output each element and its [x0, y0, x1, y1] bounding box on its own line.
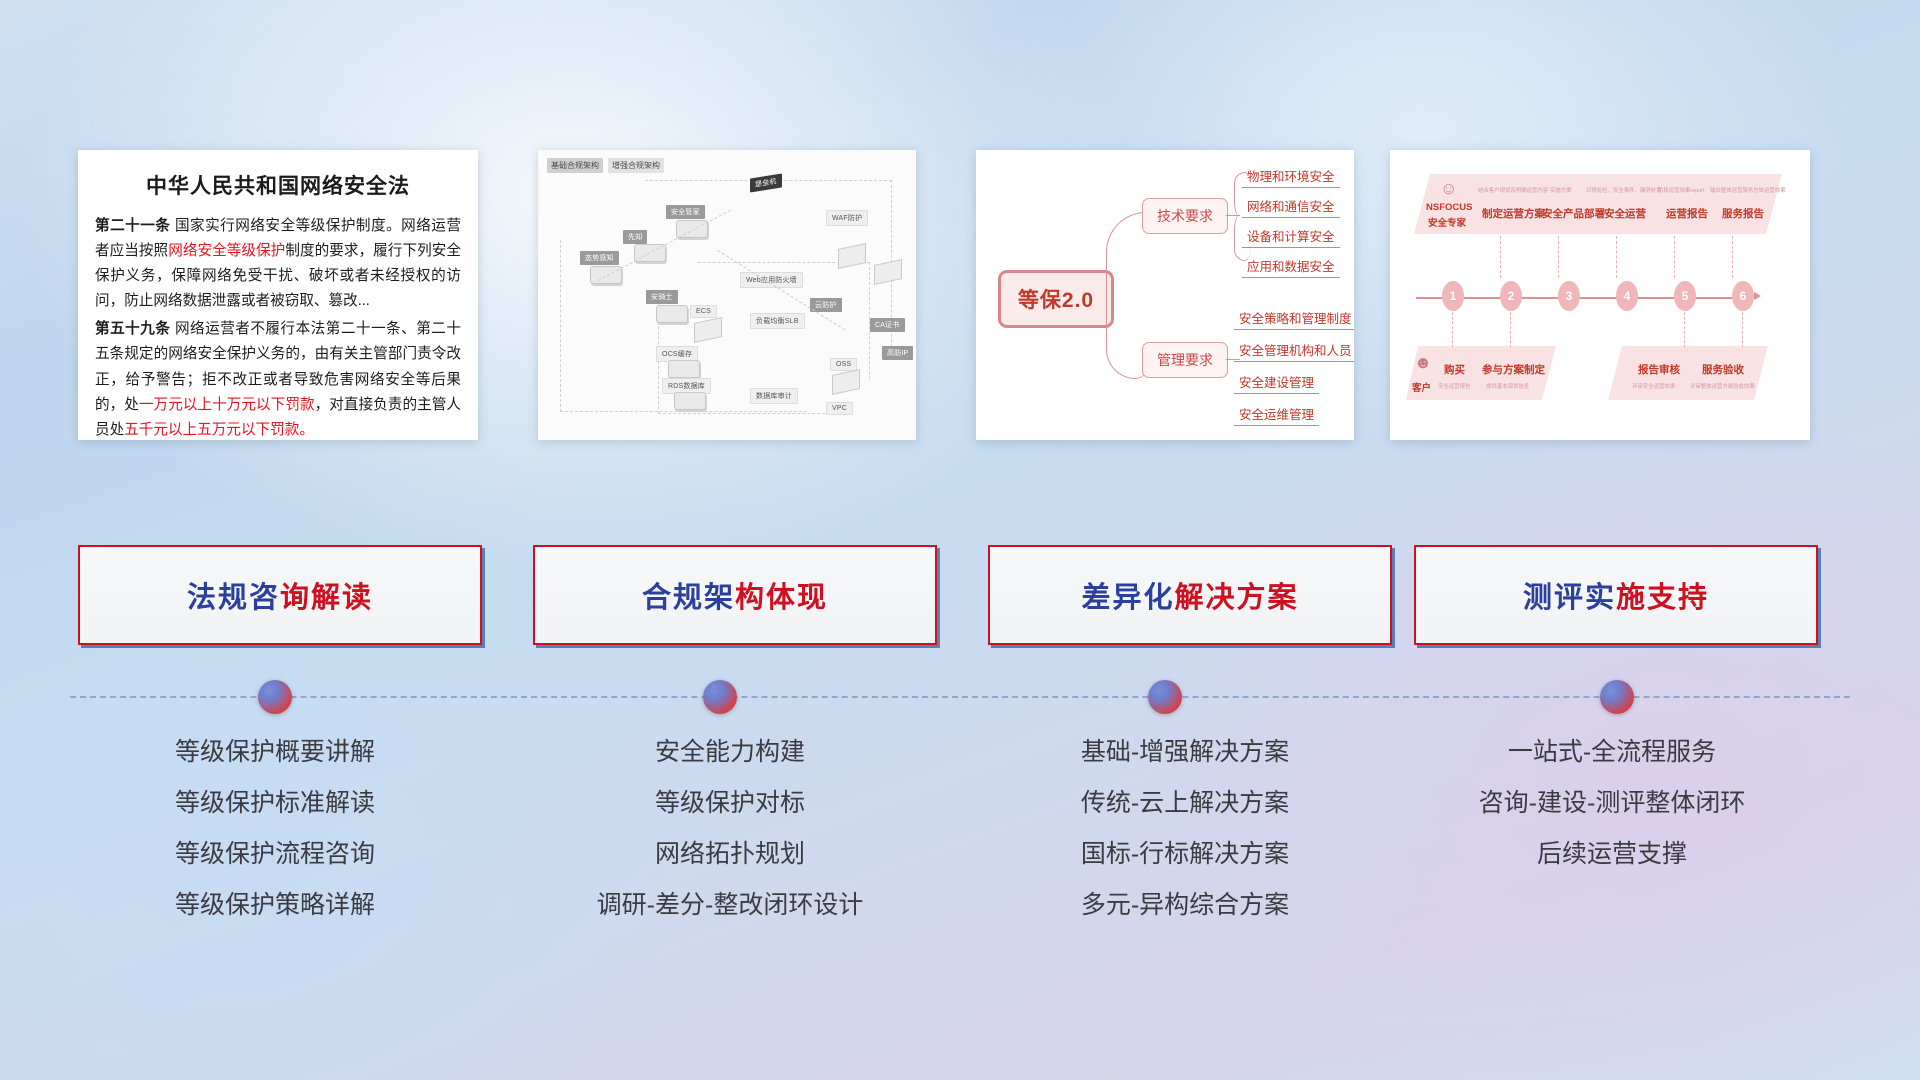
timeline-node-5: 5 — [1674, 281, 1696, 311]
mindmap-leaf-construction-mgmt: 安全建设管理 — [1234, 372, 1319, 394]
bullet-1-3: 等级保护流程咨询 — [75, 842, 475, 867]
mindmap-root: 等保2.0 — [998, 270, 1114, 328]
mindmap-canvas: 等保2.0 技术要求 管理要求 物理和环境安全 网络和通信安全 设备和计算安全 … — [976, 150, 1354, 440]
bullet-column-2: 安全能力构建 等级保护对标 网络拓扑规划 调研-差分-整改闭环设计 — [530, 740, 930, 944]
architecture-canvas: 基础合规架构 增强合规架构 堡垒机 安全管家 先知 态势感知 WAF防护 Web… — [538, 150, 916, 440]
section-title-2-text: 合规架构体现 — [642, 574, 828, 616]
bottom-step-3-major: 报告审核 — [1638, 362, 1680, 377]
tab-enhanced-compliance[interactable]: 增强合规架构 — [608, 158, 664, 173]
node-xianzhi: 先知 — [623, 230, 647, 244]
law-article-21: 第二十一条 国家实行网络安全等级保护制度。网络运营者应当按照网络安全等级保护制度… — [95, 214, 461, 314]
bottom-step-1-minor: 安全运营报告 — [1438, 382, 1470, 390]
bottom-step-4-major: 服务验收 — [1702, 362, 1744, 377]
node-oss: OSS — [830, 358, 857, 371]
mindmap-leaf-org-personnel: 安全管理机构和人员 — [1234, 340, 1354, 362]
top-step-5-minor: 输出整体运营服务总体运营效果 — [1710, 186, 1785, 194]
timeline-rail — [70, 696, 1850, 700]
bullet-3-1: 基础-增强解决方案 — [985, 740, 1385, 765]
top-step-5-major: 服务报告 — [1722, 206, 1764, 221]
card-architecture-diagram: 基础合规架构 增强合规架构 堡垒机 安全管家 先知 态势感知 WAF防护 Web… — [538, 150, 916, 440]
tab-basic-compliance[interactable]: 基础合规架构 — [547, 158, 603, 173]
node-ca-cert: CA证书 — [870, 318, 905, 332]
customer-role-label: 客户 — [1412, 380, 1431, 394]
bullet-2-1: 安全能力构建 — [530, 740, 930, 765]
timeline-node-6: 6 — [1732, 281, 1754, 311]
section-title-3-blue: 差异化 — [1081, 582, 1174, 614]
section-title-2-red: 构体现 — [735, 582, 828, 614]
node-situational-awareness: 态势感知 — [580, 251, 619, 265]
image-card-row: 中华人民共和国网络安全法 第二十一条 国家实行网络安全等级保护制度。网络运营者应… — [0, 150, 1920, 440]
card-law-document: 中华人民共和国网络安全法 第二十一条 国家实行网络安全等级保护制度。网络运营者应… — [78, 150, 478, 440]
section-title-4-text: 测评实施支持 — [1523, 574, 1709, 616]
bullet-1-1: 等级保护概要讲解 — [75, 740, 475, 765]
bottom-step-3-minor: 评审安全运营效果 — [1632, 382, 1675, 390]
mindmap-branch-technical: 技术要求 — [1142, 198, 1228, 234]
node-vpc: VPC — [826, 402, 853, 415]
article-21-highlight: 网络安全等级保护 — [168, 243, 285, 259]
section-title-regulation-consulting[interactable]: 法规咨询解读 — [78, 545, 482, 645]
slide-canvas: 中华人民共和国网络安全法 第二十一条 国家实行网络安全等级保护制度。网络运营者应… — [0, 0, 1920, 1080]
node-high-defense-ip: 高防IP — [882, 346, 913, 360]
timeline-node-3: 3 — [1558, 281, 1580, 311]
bottom-step-2-minor: 提供基本现状信息 — [1486, 382, 1529, 390]
section-title-3-text: 差异化解决方案 — [1081, 574, 1298, 616]
timeline-arrow-icon — [1754, 292, 1761, 300]
article-59-highlight-2: 五千元以上五万元以下罚款。 — [124, 422, 314, 438]
bottom-step-1-major: 购买 — [1444, 362, 1465, 377]
timeline-node-2: 2 — [1500, 281, 1522, 311]
bullet-2-3: 网络拓扑规划 — [530, 842, 930, 867]
top-step-4-minor: 阶段运营效果report — [1658, 186, 1704, 194]
timeline-band-customer-right — [1608, 346, 1768, 400]
bullet-4-1: 一站式-全流程服务 — [1412, 740, 1812, 765]
rail-dot-1[interactable] — [258, 680, 292, 714]
timeline-axis — [1416, 297, 1756, 299]
timeline-canvas: ☺ NSFOCUS 安全专家 结合客户现状及明确运营内容 制定运营方案 实施方案… — [1390, 150, 1810, 440]
top-step-2-minor: 实施方案 — [1550, 186, 1572, 194]
top-step-1-minor: 结合客户现状及明确运营内容 — [1478, 186, 1548, 194]
bullet-1-4: 等级保护策略详解 — [75, 893, 475, 918]
section-title-assessment-support[interactable]: 测评实施支持 — [1414, 545, 1818, 645]
expert-person-icon: ☺ — [1440, 180, 1457, 197]
top-step-2-major: 安全产品部署 — [1542, 206, 1605, 221]
card-mindmap-dengbao: 等保2.0 技术要求 管理要求 物理和环境安全 网络和通信安全 设备和计算安全 … — [976, 150, 1354, 440]
article-59-highlight-1: 一万元以上十万元以下罚款 — [139, 397, 315, 413]
rail-dot-3[interactable] — [1148, 680, 1182, 714]
mindmap-leaf-network-comm: 网络和通信安全 — [1242, 196, 1340, 218]
top-step-4-major: 运营报告 — [1666, 206, 1708, 221]
law-body: 中华人民共和国网络安全法 第二十一条 国家实行网络安全等级保护制度。网络运营者应… — [78, 150, 478, 440]
section-title-differentiated-solution[interactable]: 差异化解决方案 — [988, 545, 1392, 645]
expert-role-line1: NSFOCUS — [1426, 202, 1472, 213]
mindmap-leaf-policy-system: 安全策略和管理制度 — [1234, 308, 1354, 330]
bullet-column-1: 等级保护概要讲解 等级保护标准解读 等级保护流程咨询 等级保护策略详解 — [75, 740, 475, 944]
bottom-step-2-major: 参与方案制定 — [1482, 362, 1545, 377]
bullet-4-3: 后续运营支撑 — [1412, 842, 1812, 867]
expert-role-line2: 安全专家 — [1428, 215, 1466, 229]
top-step-3-minor: 日常巡检、安全事件、漏洞处置 — [1586, 186, 1661, 194]
bullet-column-row: 等级保护概要讲解 等级保护标准解读 等级保护流程咨询 等级保护策略详解 安全能力… — [0, 740, 1920, 980]
section-title-2-blue: 合规架 — [642, 582, 735, 614]
top-step-3-major: 安全运营 — [1604, 206, 1646, 221]
section-title-4-red: 施支持 — [1616, 582, 1709, 614]
section-title-1-text: 法规咨询解读 — [187, 574, 373, 616]
customer-person-icon: ☻ — [1414, 354, 1432, 371]
bullet-3-3: 国标-行标解决方案 — [985, 842, 1385, 867]
section-title-3-red: 解决方案 — [1175, 582, 1299, 614]
section-title-compliance-architecture[interactable]: 合规架构体现 — [533, 545, 937, 645]
node-db-audit: 数据库审计 — [750, 388, 798, 404]
bullet-4-2: 咨询-建设-测评整体闭环 — [1412, 791, 1812, 816]
article-21-label: 第二十一条 — [95, 218, 170, 234]
timeline-node-1: 1 — [1442, 281, 1464, 311]
article-59-label: 第五十九条 — [95, 321, 170, 337]
mindmap-leaf-physical-env: 物理和环境安全 — [1242, 166, 1340, 188]
mindmap-leaf-ops-mgmt: 安全运维管理 — [1234, 404, 1319, 426]
node-security-butler: 安全管家 — [666, 205, 705, 219]
law-article-59: 第五十九条 网络运营者不履行本法第二十一条、第二十五条规定的网络安全保护义务的，… — [95, 317, 461, 440]
node-waf-protect: WAF防护 — [826, 210, 868, 226]
rail-dot-2[interactable] — [703, 680, 737, 714]
rail-dot-4[interactable] — [1600, 680, 1634, 714]
section-title-1-red: 询解读 — [280, 582, 373, 614]
bullet-1-2: 等级保护标准解读 — [75, 791, 475, 816]
node-web-firewall: Web应用防火墙 — [740, 272, 803, 288]
section-title-4-blue: 测评实 — [1523, 582, 1616, 614]
timeline-node-4: 4 — [1616, 281, 1638, 311]
bullet-column-3: 基础-增强解决方案 传统-云上解决方案 国标-行标解决方案 多元-异构综合方案 — [985, 740, 1385, 944]
bullet-2-4: 调研-差分-整改闭环设计 — [530, 893, 930, 918]
bullet-3-4: 多元-异构综合方案 — [985, 893, 1385, 918]
section-title-1-blue: 法规咨 — [187, 582, 280, 614]
bottom-step-4-minor: 评审整体运营方案验收效果 — [1690, 382, 1755, 390]
node-ecs: ECS — [690, 305, 717, 318]
bullet-2-2: 等级保护对标 — [530, 791, 930, 816]
mindmap-leaf-device-compute: 设备和计算安全 — [1242, 226, 1340, 248]
node-bastion-host: 安骑士 — [646, 290, 678, 304]
bullet-3-2: 传统-云上解决方案 — [985, 791, 1385, 816]
mindmap-leaf-app-data: 应用和数据安全 — [1242, 256, 1340, 278]
top-step-1-major: 制定运营方案 — [1482, 206, 1545, 221]
law-title: 中华人民共和国网络安全法 — [95, 170, 461, 200]
bullet-column-4: 一站式-全流程服务 咨询-建设-测评整体闭环 后续运营支撑 — [1412, 740, 1812, 893]
section-title-row: 法规咨询解读 合规架构体现 差异化解决方案 测评实施支持 — [0, 545, 1920, 645]
mindmap-branch-management: 管理要求 — [1142, 342, 1228, 378]
architecture-tabs: 基础合规架构 增强合规架构 — [547, 158, 664, 173]
node-slb: 负载均衡SLB — [750, 313, 805, 329]
card-service-timeline: ☺ NSFOCUS 安全专家 结合客户现状及明确运营内容 制定运营方案 实施方案… — [1390, 150, 1810, 440]
